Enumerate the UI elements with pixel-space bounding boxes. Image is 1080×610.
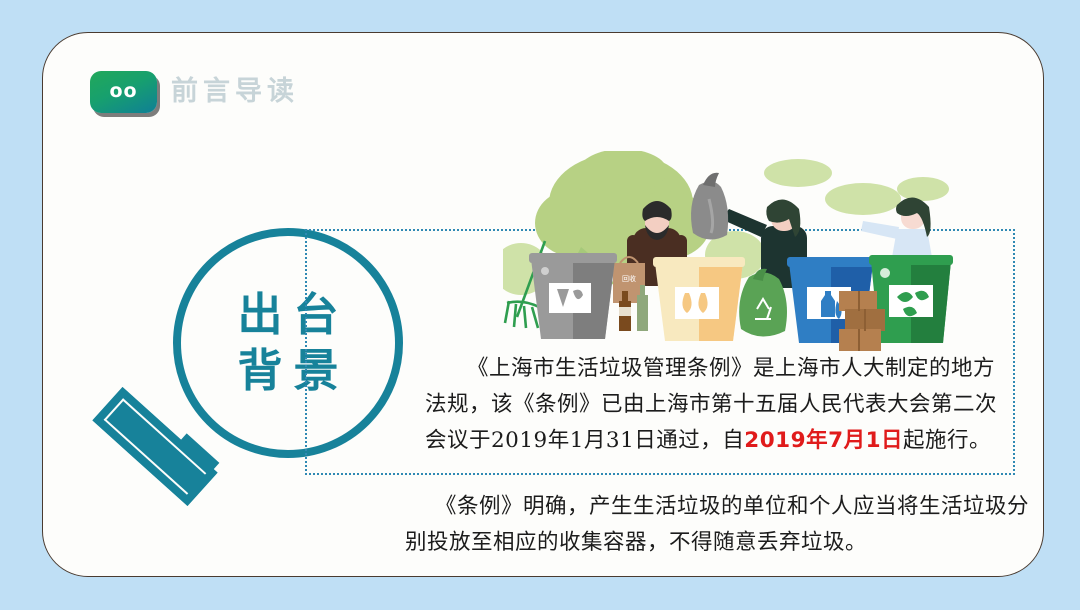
page-title: 前言导读 bbox=[171, 71, 299, 113]
main-paragraph: 《上海市生活垃圾管理条例》是上海市人大制定的地方法规，该《条例》已由上海市第十五… bbox=[425, 351, 1010, 459]
dry-waste-bin-icon bbox=[529, 253, 617, 339]
bottom-paragraph-text: 《条例》明确，产生生活垃圾的单位和个人应当将生活垃圾分别投放至相应的收集容器，不… bbox=[405, 494, 1029, 555]
svg-text:回收: 回收 bbox=[622, 274, 636, 283]
garbage-bag-icon bbox=[691, 173, 728, 240]
wet-waste-bin-icon bbox=[653, 257, 745, 341]
section-number-label: oo bbox=[109, 82, 137, 103]
recycling-illustration: 回收 bbox=[503, 151, 983, 361]
section-number-badge: oo bbox=[90, 71, 157, 113]
slide-canvas: oo 前言导读 出台 背景 bbox=[0, 0, 1080, 610]
content-card: oo 前言导读 出台 背景 bbox=[42, 32, 1044, 577]
bottom-paragraph: 《条例》明确，产生生活垃圾的单位和个人应当将生活垃圾分别投放至相应的收集容器，不… bbox=[405, 489, 1030, 561]
main-paragraph-part-2: 起施行。 bbox=[903, 428, 991, 453]
effective-date-highlight: 2019年7月1日 bbox=[744, 428, 903, 453]
